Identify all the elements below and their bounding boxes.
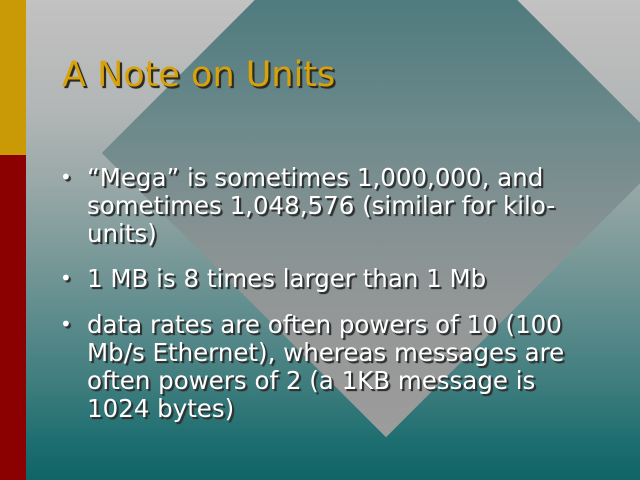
list-item-text: 1 MB is 8 times larger than 1 Mb bbox=[87, 265, 580, 293]
list-item-text: “Mega” is sometimes 1,000,000, and somet… bbox=[87, 164, 580, 247]
bullet-point-icon: • bbox=[60, 164, 87, 192]
list-item-text: data rates are often powers of 10 (100 M… bbox=[87, 311, 580, 422]
list-item: • data rates are often powers of 10 (100… bbox=[60, 311, 580, 422]
bullet-point-icon: • bbox=[60, 311, 87, 339]
bullet-point-icon: • bbox=[60, 265, 87, 293]
maroon-accent-bar bbox=[0, 155, 26, 480]
left-accent-sidebar bbox=[0, 0, 26, 480]
slide-body-bullet-list: • “Mega” is sometimes 1,000,000, and som… bbox=[60, 164, 580, 422]
slide-title: A Note on Units bbox=[62, 57, 602, 94]
gold-accent-bar bbox=[0, 0, 26, 155]
list-item: • “Mega” is sometimes 1,000,000, and som… bbox=[60, 164, 580, 247]
list-item: • 1 MB is 8 times larger than 1 Mb bbox=[60, 265, 580, 293]
presentation-slide: A Note on Units • “Mega” is sometimes 1,… bbox=[0, 0, 640, 480]
